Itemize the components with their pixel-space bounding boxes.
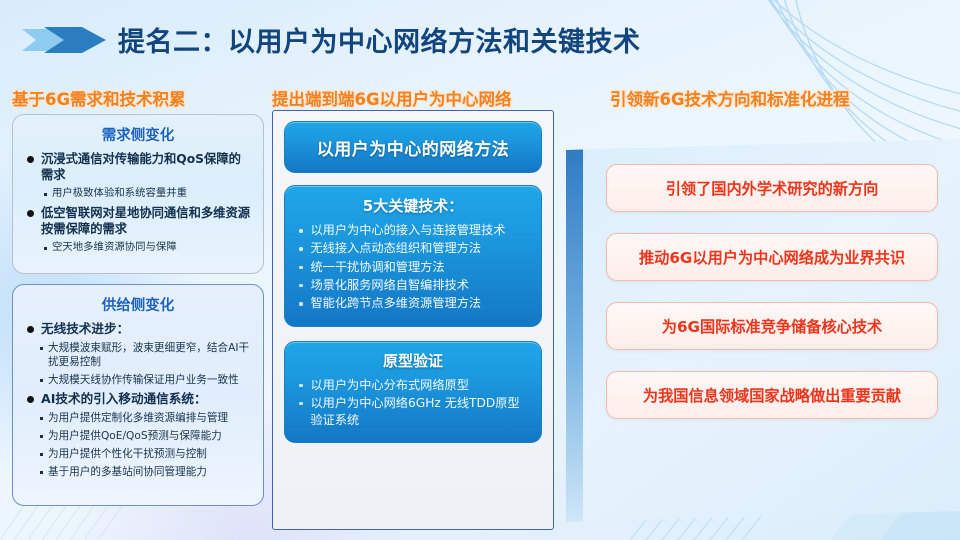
bullet-square-icon — [40, 379, 43, 382]
achievement-label: 推动6G以用户为中心网络成为业界共识 — [639, 246, 905, 268]
bullet-dot-icon — [27, 396, 34, 403]
double-chevron-arrow-icon — [20, 23, 108, 57]
bullet-square-icon — [40, 417, 43, 420]
bullet-dot-icon — [299, 384, 303, 388]
list-item: 无线技术进步： — [24, 321, 252, 338]
bullet-dot-icon — [299, 229, 303, 233]
list-item: 以用户为中心网络6GHz 无线TDD原型验证系统 — [297, 395, 529, 430]
achievement-label: 引领了国内外学术研究的新方向 — [666, 177, 879, 199]
sub-list-item: 大规模天线协作传输保证用户业务一致性 — [40, 373, 252, 387]
list-item: 智能化跨节点多维资源管理方法 — [297, 295, 529, 312]
sub-list-item: 基于用户的多基站间协同管理能力 — [40, 465, 252, 479]
sub-list-item-label: 为用户提供QoE/QoS预测与保障能力 — [48, 429, 222, 443]
middle-column: 以用户为中心的网络方法 5大关键技术： 以用户为中心的接入与连接管理技术 无线接… — [272, 110, 554, 530]
list-item: AI技术的引入移动通信系统： — [24, 391, 252, 408]
bullet-dot-icon — [27, 210, 34, 217]
supply-side-title: 供给侧变化 — [24, 294, 252, 315]
bullet-square-icon — [40, 453, 43, 456]
bullet-square-icon — [40, 435, 43, 438]
achievement-card: 引领了国内外学术研究的新方向 — [606, 164, 938, 212]
caption-left-text: 基于6G需求和技术积累 — [12, 90, 186, 109]
prototype-validation-box: 原型验证 以用户为中心分布式网络原型 以用户为中心网络6GHz 无线TDD原型验… — [284, 341, 542, 443]
supply-side-card: 供给侧变化 无线技术进步： 大规模波束赋形，波束更细更窄，结合AI干扰更易控制 … — [12, 284, 264, 506]
sub-list-item: 用户极致体验和系统容量并重 — [44, 187, 252, 201]
achievement-list: 引领了国内外学术研究的新方向 推动6G以用户为中心网络成为业界共识 为6G国际标… — [606, 164, 938, 440]
bullet-square-icon — [40, 471, 43, 474]
list-item-label: 无线接入点动态组织和管理方法 — [311, 240, 482, 257]
bullet-square-icon — [44, 247, 47, 250]
list-item: 低空智联网对星地协同通信和多维资源按需保障的需求 — [24, 205, 252, 238]
list-item-label: 以用户为中心分布式网络原型 — [311, 377, 469, 394]
bullet-dot-icon — [299, 266, 303, 270]
list-item: 场景化服务网络自智编排技术 — [297, 277, 529, 294]
caption-middle-text: 提出端到端6G以用户为中心网络 — [272, 90, 512, 109]
key-technologies-title: 5大关键技术： — [297, 195, 529, 216]
sub-list-item: 为用户提供定制化多维资源编排与管理 — [40, 411, 252, 425]
middle-header-label: 以用户为中心的网络方法 — [317, 135, 510, 160]
right-column: 引领了国内外学术研究的新方向 推动6G以用户为中心网络成为业界共识 为6G国际标… — [566, 150, 960, 522]
sub-list-item-label: 大规模波束赋形，波束更细更窄，结合AI干扰更易控制 — [48, 341, 252, 369]
sub-list-item: 为用户提供QoE/QoS预测与保障能力 — [40, 429, 252, 443]
bullet-dot-icon — [299, 402, 303, 406]
sub-list-item-label: 用户极致体验和系统容量并重 — [52, 187, 187, 201]
list-item-label: 低空智联网对星地协同通信和多维资源按需保障的需求 — [41, 205, 252, 238]
sub-list-item: 大规模波束赋形，波束更细更窄，结合AI干扰更易控制 — [40, 341, 252, 369]
slide-canvas: 提名二：以用户为中心网络方法和关键技术 基于6G需求和技术积累 提出端到端6G以… — [0, 0, 960, 540]
list-item-label: AI技术的引入移动通信系统： — [41, 391, 207, 408]
list-item: 无线接入点动态组织和管理方法 — [297, 240, 529, 257]
page-title: 提名二：以用户为中心网络方法和关键技术 — [118, 20, 641, 59]
caption-right-text: 引领新6G技术方向和标准化进程 — [610, 90, 850, 109]
list-item: 统一干扰协调和管理方法 — [297, 259, 529, 276]
achievement-card: 为6G国际标准竞争储备核心技术 — [606, 302, 938, 350]
bullet-square-icon — [44, 193, 47, 196]
list-item-label: 无线技术进步： — [41, 321, 129, 338]
bullet-dot-icon — [299, 284, 303, 288]
caption-middle: 提出端到端6G以用户为中心网络 — [272, 86, 512, 110]
list-item-label: 沉浸式通信对传输能力和QoS保障的需求 — [41, 151, 252, 184]
sub-list-item-label: 为用户提供个性化干扰预测与控制 — [48, 447, 207, 461]
list-item: 以用户为中心分布式网络原型 — [297, 377, 529, 394]
prototype-validation-title: 原型验证 — [297, 350, 529, 371]
right-panel-edge-bar — [566, 150, 583, 522]
sub-list-item-label: 基于用户的多基站间协同管理能力 — [48, 465, 207, 479]
bullet-dot-icon — [27, 156, 34, 163]
list-item-label: 以用户为中心的接入与连接管理技术 — [311, 222, 506, 239]
left-column: 需求侧变化 沉浸式通信对传输能力和QoS保障的需求 用户极致体验和系统容量并重 … — [12, 114, 264, 506]
list-item-label: 场景化服务网络自智编排技术 — [311, 277, 469, 294]
caption-left: 基于6G需求和技术积累 — [12, 86, 186, 110]
achievement-card: 推动6G以用户为中心网络成为业界共识 — [606, 233, 938, 281]
sub-list-item-label: 空天地多维资源协同与保障 — [52, 241, 177, 255]
achievement-label: 为我国信息领域国家战略做出重要贡献 — [643, 384, 901, 406]
middle-header-box: 以用户为中心的网络方法 — [284, 121, 542, 173]
key-technologies-box: 5大关键技术： 以用户为中心的接入与连接管理技术 无线接入点动态组织和管理方法 … — [284, 185, 542, 327]
demand-side-card: 需求侧变化 沉浸式通信对传输能力和QoS保障的需求 用户极致体验和系统容量并重 … — [12, 114, 264, 274]
bullet-dot-icon — [299, 247, 303, 251]
list-item-label: 以用户为中心网络6GHz 无线TDD原型验证系统 — [311, 395, 530, 430]
sub-list-item: 为用户提供个性化干扰预测与控制 — [40, 447, 252, 461]
list-item-label: 统一干扰协调和管理方法 — [311, 259, 445, 276]
sub-list-item-label: 为用户提供定制化多维资源编排与管理 — [48, 411, 228, 425]
list-item: 以用户为中心的接入与连接管理技术 — [297, 222, 529, 239]
list-item: 沉浸式通信对传输能力和QoS保障的需求 — [24, 151, 252, 184]
slide-header: 提名二：以用户为中心网络方法和关键技术 — [20, 20, 641, 59]
bullet-dot-icon — [299, 302, 303, 306]
achievement-card: 为我国信息领域国家战略做出重要贡献 — [606, 371, 938, 419]
sub-list-item-label: 大规模天线协作传输保证用户业务一致性 — [48, 373, 239, 387]
bullet-square-icon — [40, 347, 43, 350]
sub-list-item: 空天地多维资源协同与保障 — [44, 241, 252, 255]
achievement-label: 为6G国际标准竞争储备核心技术 — [662, 315, 882, 337]
list-item-label: 智能化跨节点多维资源管理方法 — [311, 295, 482, 312]
caption-right: 引领新6G技术方向和标准化进程 — [610, 86, 850, 110]
demand-side-title: 需求侧变化 — [24, 124, 252, 145]
bullet-dot-icon — [27, 326, 34, 333]
